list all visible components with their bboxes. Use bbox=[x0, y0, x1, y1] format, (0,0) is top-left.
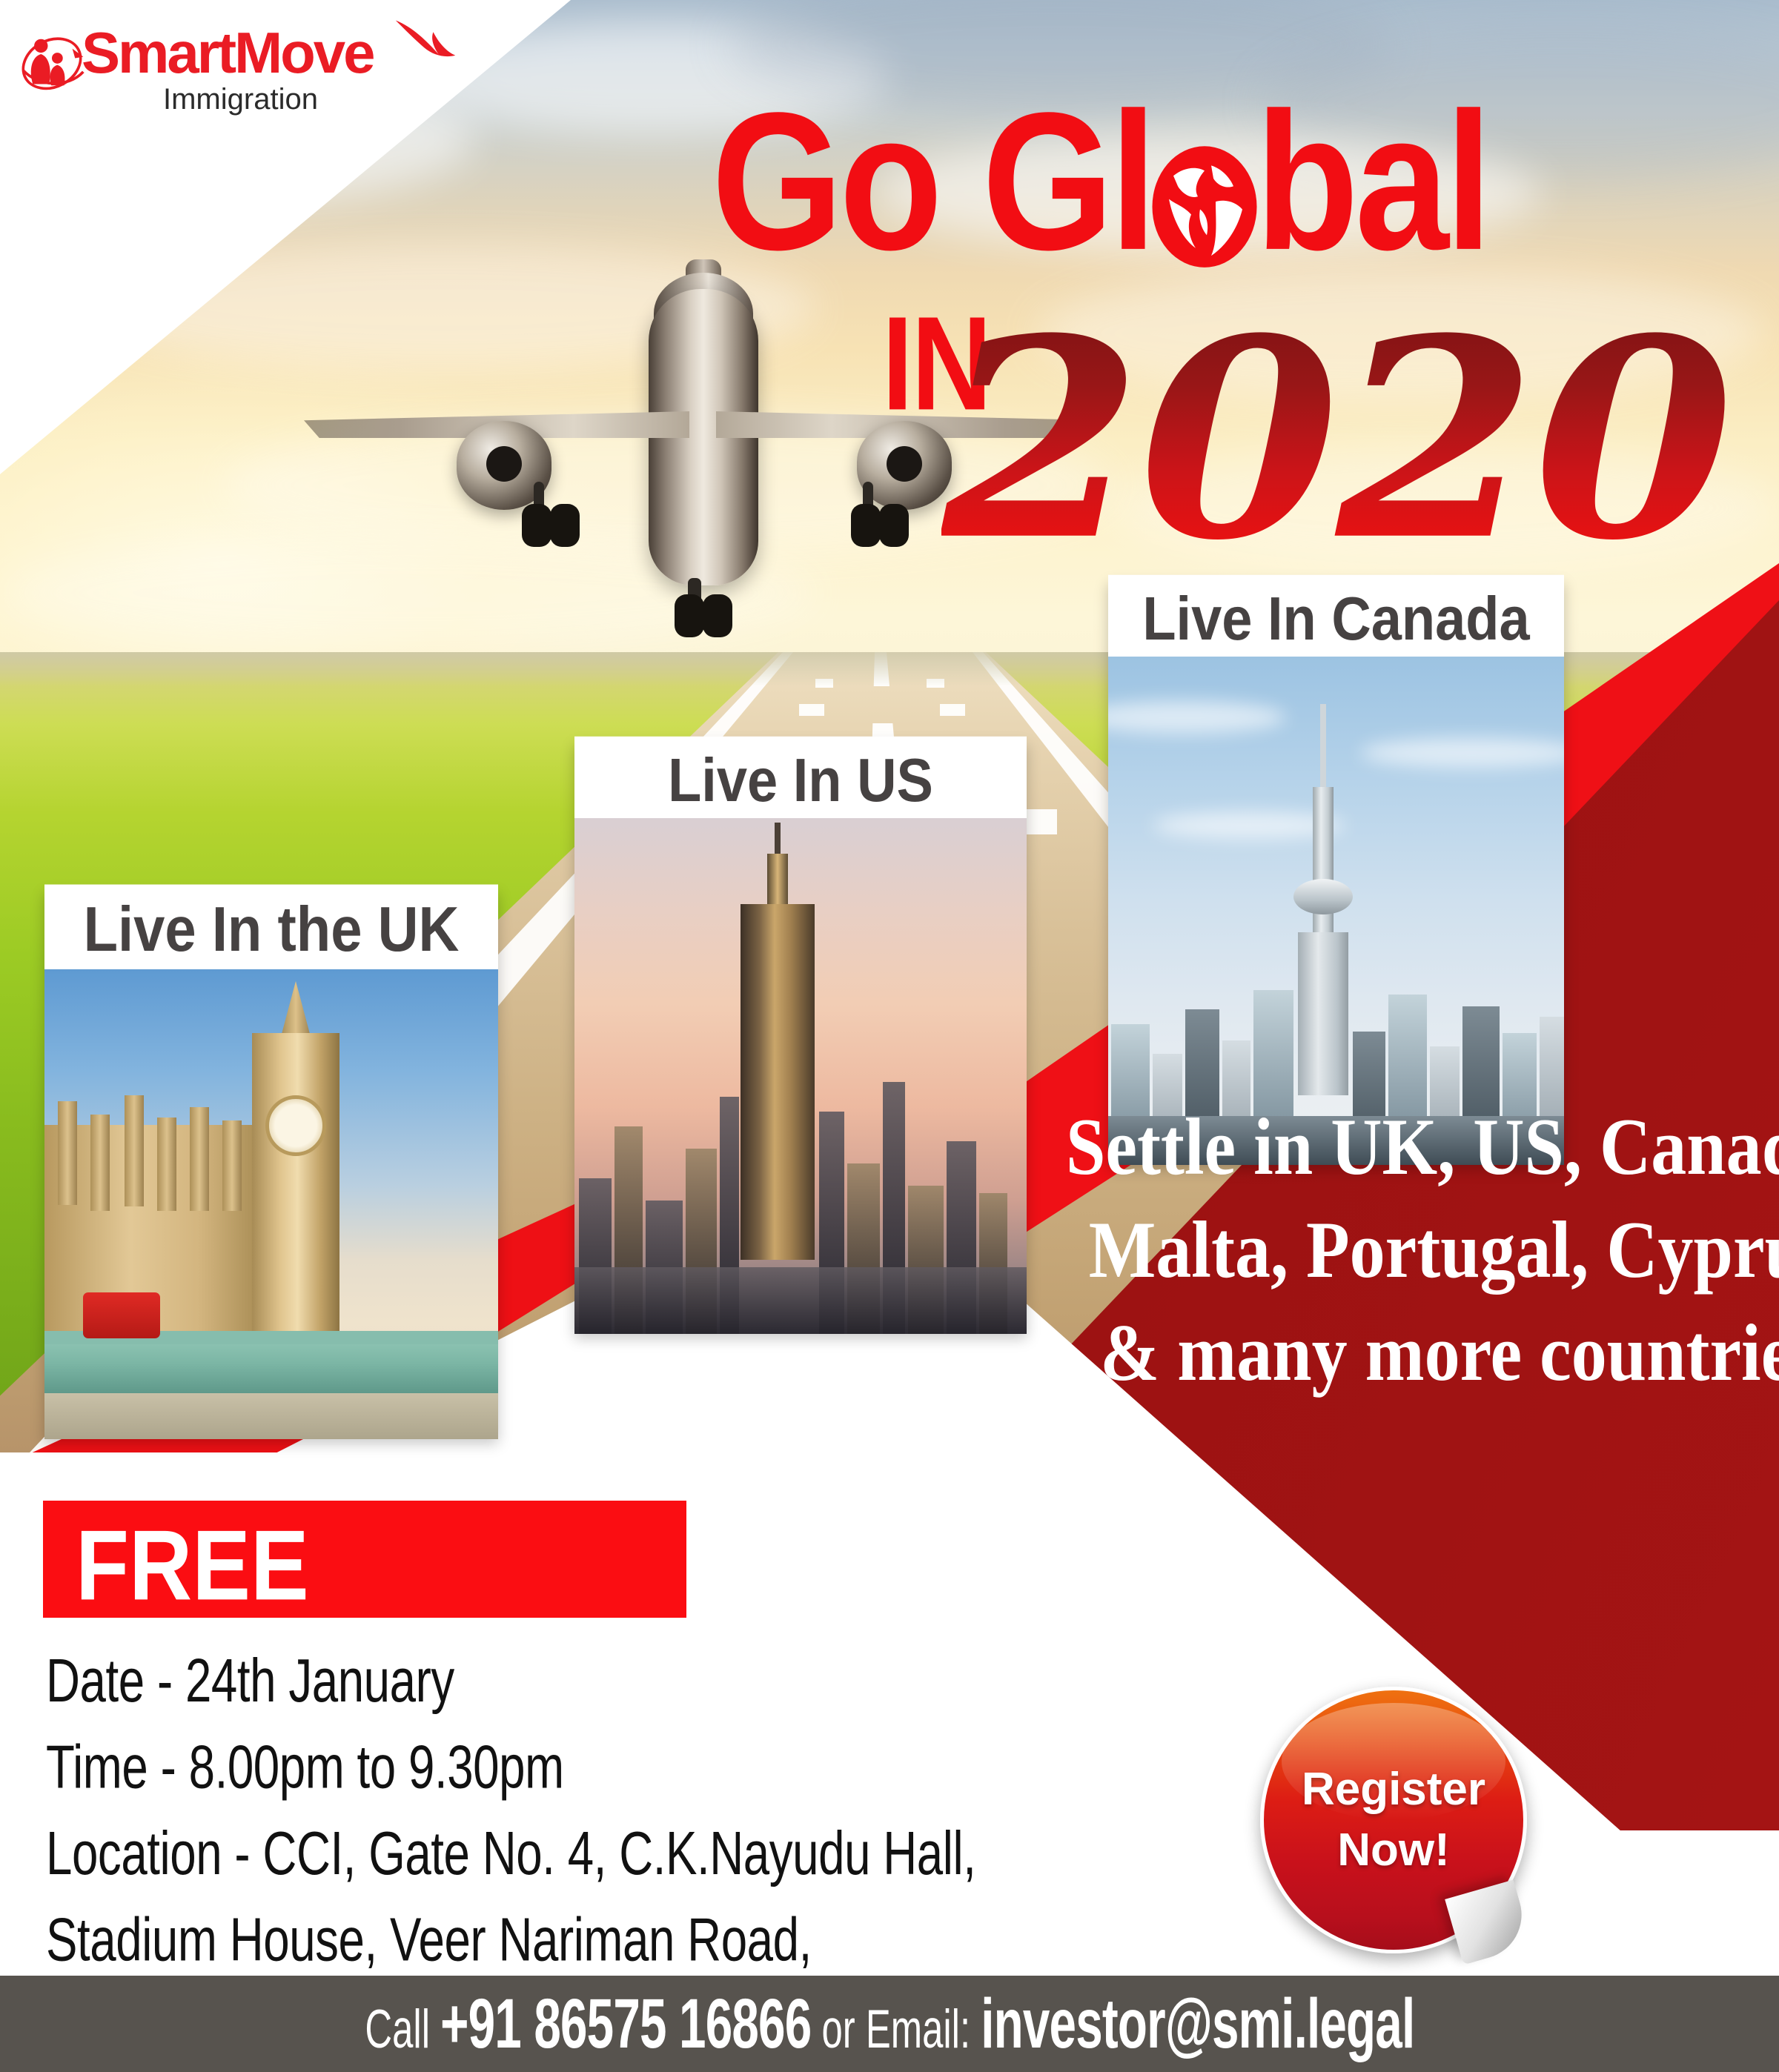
headline-line1: Go Gl bal bbox=[712, 83, 1779, 281]
card-label-canada: Live In Canada bbox=[1108, 575, 1564, 661]
seminar-detail-location-1: Location - CCI, Gate No. 4, C.K.Nayudu H… bbox=[46, 1810, 1091, 1896]
register-line-2: Now! bbox=[1337, 1820, 1450, 1881]
call-label: Call bbox=[365, 1999, 440, 2059]
headline-go-gl: Go Gl bbox=[712, 73, 1153, 291]
headline-bal: bal bbox=[1256, 73, 1488, 291]
globe-icon bbox=[1149, 142, 1260, 271]
email-address[interactable]: investor@smi.legal bbox=[981, 1985, 1414, 2062]
settle-countries-text: Settle in UK, US, Canada, Malta, Portuga… bbox=[1060, 1095, 1779, 1404]
brand-logo[interactable]: SmartMove Immigration bbox=[18, 22, 433, 126]
toronto-cn-tower-photo bbox=[1108, 657, 1564, 1165]
headline: Go Gl bal bbox=[712, 83, 1779, 268]
new-york-skyline-photo bbox=[574, 818, 1027, 1334]
country-card-canada[interactable]: Live In Canada bbox=[1108, 580, 1564, 1165]
seminar-detail-date: Date - 24th January bbox=[46, 1638, 1091, 1724]
country-card-uk[interactable]: Live In the UK bbox=[44, 889, 498, 1439]
brand-tagline: Immigration bbox=[163, 84, 318, 114]
seminar-detail-location-2: Stadium House, Veer Nariman Road, bbox=[46, 1896, 1091, 1982]
contact-line: Call +91 86575 16866 or Email: investor@… bbox=[365, 1984, 1414, 2065]
poster-canvas: SmartMove Immigration Go Gl bal IN 2020 … bbox=[0, 0, 1779, 2072]
phone-number[interactable]: +91 86575 16866 bbox=[440, 1985, 811, 2062]
country-card-us[interactable]: Live In US bbox=[574, 741, 1027, 1334]
register-now-button[interactable]: Register Now! bbox=[1260, 1687, 1527, 1953]
card-label-uk: Live In the UK bbox=[44, 885, 498, 974]
headline-year: 2020 bbox=[941, 302, 1731, 577]
contact-footer: Call +91 86575 16866 or Email: investor@… bbox=[0, 1976, 1779, 2072]
bird-icon bbox=[392, 18, 459, 70]
card-label-us: Live In US bbox=[574, 737, 1027, 823]
people-globe-swoosh-icon bbox=[18, 28, 86, 96]
email-label: or Email: bbox=[811, 1999, 981, 2059]
seminar-detail-time: Time - 8.00pm to 9.30pm bbox=[46, 1724, 1091, 1810]
brand-name: SmartMove bbox=[82, 24, 373, 82]
free-seminar-badge: FREE SEMINAR bbox=[43, 1501, 686, 1618]
register-line-1: Register bbox=[1302, 1759, 1485, 1820]
big-ben-westminster-photo bbox=[44, 969, 498, 1439]
